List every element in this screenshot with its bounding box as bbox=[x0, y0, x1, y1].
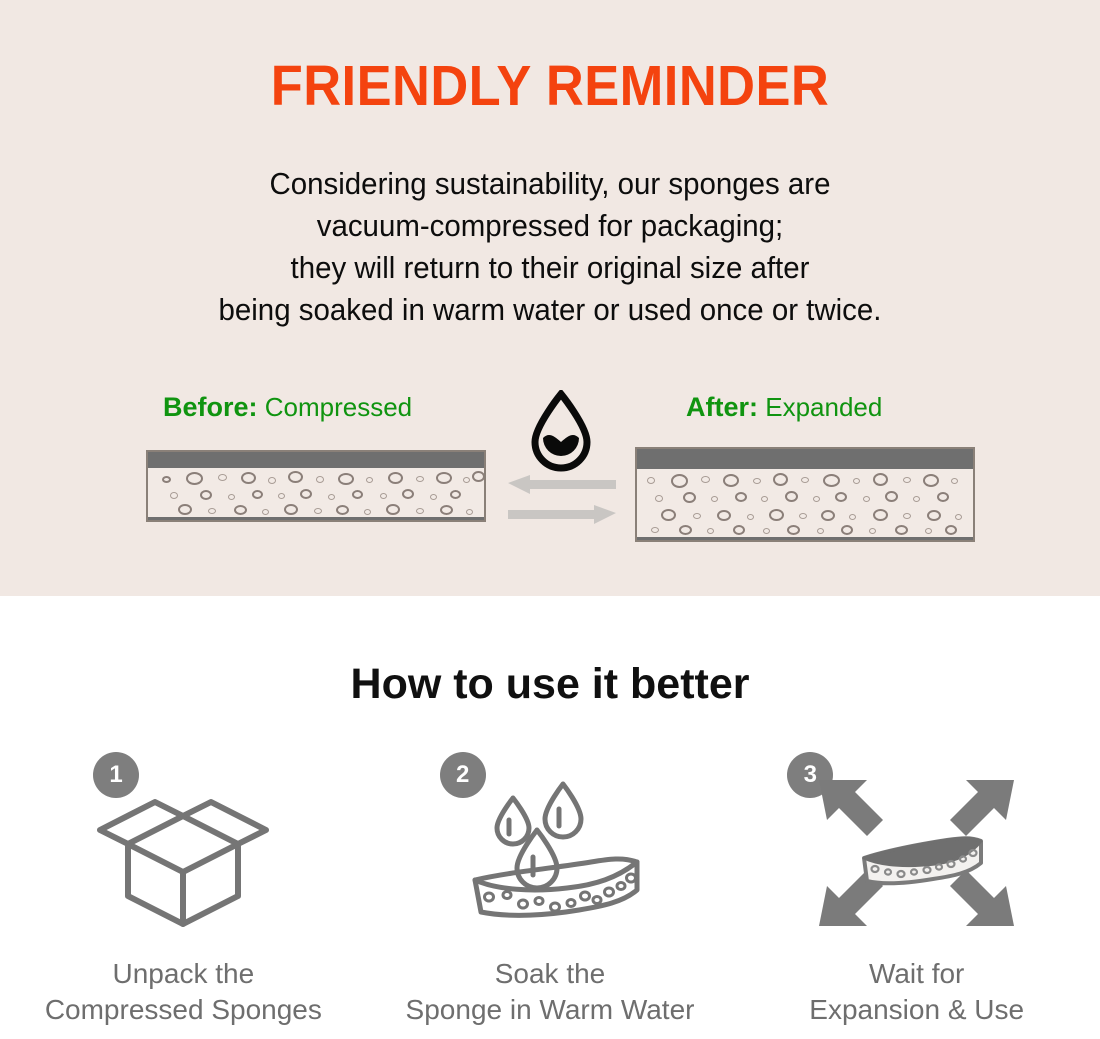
before-label-value: Compressed bbox=[265, 392, 412, 422]
before-label: Before: Compressed bbox=[163, 392, 412, 422]
step-caption: Soak the Sponge in Warm Water bbox=[367, 956, 734, 1028]
reminder-body: Considering sustainability, our sponges … bbox=[28, 163, 1073, 331]
after-label-value: Expanded bbox=[765, 392, 882, 422]
two-way-arrows-icon bbox=[508, 475, 616, 525]
step-caption-line: Expansion & Use bbox=[733, 992, 1100, 1028]
water-drops-on-sponge-icon bbox=[367, 768, 734, 938]
infographic-page: FRIENDLY REMINDER Considering sustainabi… bbox=[0, 0, 1100, 1039]
step-caption-line: Soak the bbox=[367, 956, 734, 992]
expanded-sponge-illustration bbox=[635, 447, 975, 542]
sponge-bottom-band bbox=[148, 517, 484, 520]
step-caption-line: Unpack the bbox=[0, 956, 367, 992]
step-caption-line: Wait for bbox=[733, 956, 1100, 992]
after-label-key: After: bbox=[686, 392, 758, 422]
after-label: After: Expanded bbox=[686, 392, 882, 422]
page-title: FRIENDLY REMINDER bbox=[44, 55, 1056, 117]
sponge-top-band bbox=[148, 452, 484, 468]
reminder-body-line: Considering sustainability, our sponges … bbox=[28, 163, 1073, 205]
reminder-body-line: vacuum-compressed for packaging; bbox=[28, 205, 1073, 247]
section-title: How to use it better bbox=[0, 659, 1100, 709]
step-caption-line: Sponge in Warm Water bbox=[367, 992, 734, 1028]
step-caption: Wait for Expansion & Use bbox=[733, 956, 1100, 1028]
open-box-icon bbox=[0, 768, 367, 938]
step-item: 3 bbox=[733, 746, 1100, 1036]
how-to-use-section: How to use it better 1 bbox=[0, 596, 1100, 1039]
reminder-body-line: being soaked in warm water or used once … bbox=[28, 289, 1073, 331]
step-item: 1 Unpack the Compressed Sponge bbox=[0, 746, 367, 1036]
sponge-top-band bbox=[637, 449, 973, 469]
step-caption: Unpack the Compressed Sponges bbox=[0, 956, 367, 1028]
reminder-body-line: they will return to their original size … bbox=[28, 247, 1073, 289]
expanding-sponge-icon bbox=[733, 768, 1100, 938]
steps-list: 1 Unpack the Compressed Sponge bbox=[0, 746, 1100, 1036]
before-label-key: Before: bbox=[163, 392, 258, 422]
before-after-comparison: Before: Compressed After: Expanded bbox=[0, 392, 1100, 557]
step-caption-line: Compressed Sponges bbox=[0, 992, 367, 1028]
water-drop-icon bbox=[521, 390, 601, 472]
sponge-bottom-band bbox=[637, 537, 973, 540]
friendly-reminder-section: FRIENDLY REMINDER Considering sustainabi… bbox=[0, 0, 1100, 596]
compressed-sponge-illustration bbox=[146, 450, 486, 522]
step-item: 2 bbox=[367, 746, 734, 1036]
